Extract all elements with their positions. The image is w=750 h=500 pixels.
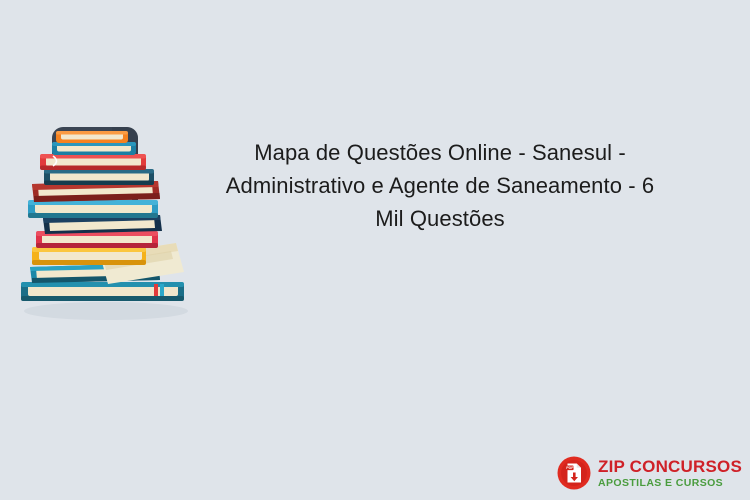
brand-name: ZIP CONCURSOS — [598, 458, 742, 475]
brand-text: ZIP CONCURSOS APOSTILAS E CURSOS — [598, 458, 742, 489]
book-top-orange — [56, 131, 128, 143]
book-navy-teal — [44, 169, 154, 185]
book-blue-wide — [28, 200, 158, 218]
book-red — [40, 154, 146, 170]
illustration-shadow — [24, 302, 188, 320]
brand-logo[interactable]: PDF ZIP CONCURSOS APOSTILAS E CURSOS — [557, 456, 742, 490]
book-small-teal — [52, 142, 136, 155]
title-block: Mapa de Questões Online - Sanesul - Admi… — [210, 136, 670, 235]
pdf-download-icon: PDF — [557, 456, 591, 490]
brand-tagline: APOSTILAS E CURSOS — [598, 478, 723, 489]
svg-text:PDF: PDF — [566, 466, 574, 470]
book-bottom-teal — [21, 282, 184, 301]
books-tablet-illustration — [8, 110, 208, 330]
product-banner: Mapa de Questões Online - Sanesul - Admi… — [0, 0, 750, 500]
page-title: Mapa de Questões Online - Sanesul - Admi… — [210, 136, 670, 235]
book-yellow — [32, 247, 146, 265]
